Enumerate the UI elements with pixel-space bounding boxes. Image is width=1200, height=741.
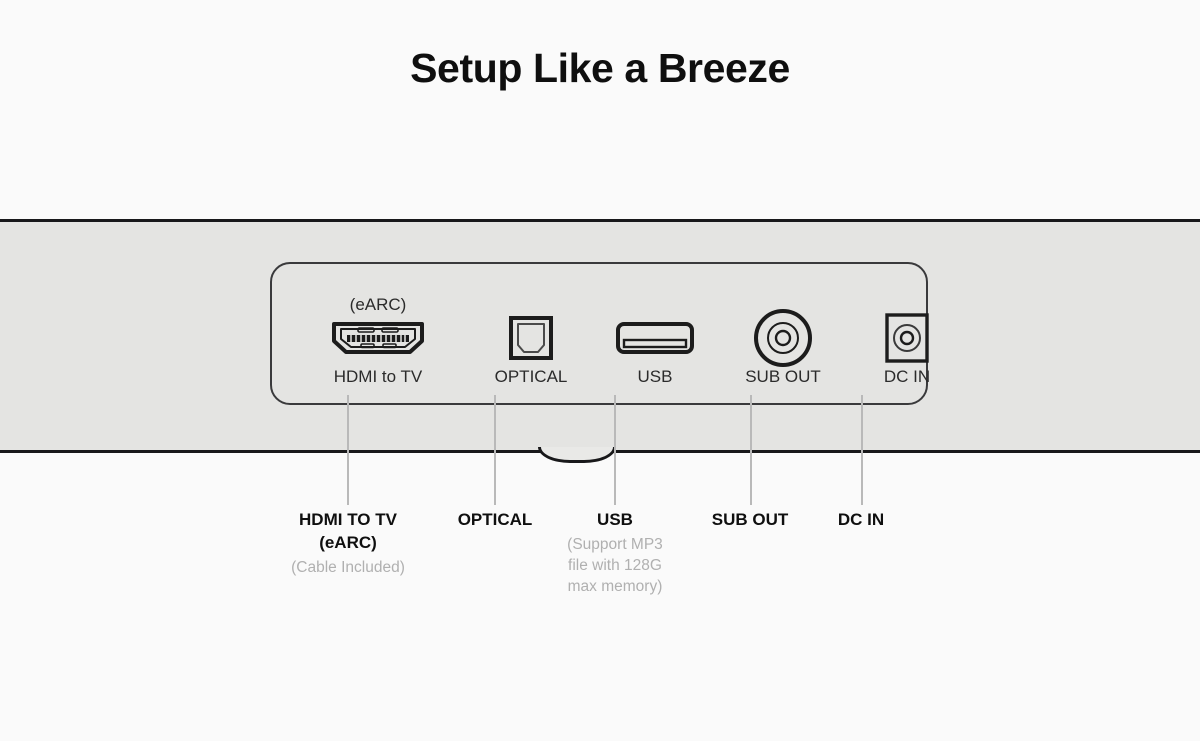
caption-dcin: DC IN	[787, 508, 935, 534]
port-optical[interactable]: OPTICAL	[466, 262, 596, 405]
rca-jack-icon	[714, 312, 852, 364]
optical-port-icon	[466, 312, 596, 364]
usb-port-label: USB	[596, 367, 714, 387]
port-subout[interactable]: SUB OUT	[714, 262, 852, 405]
hdmi-port-icon	[290, 312, 466, 364]
caption-usb: USB (Support MP3 file with 128G max memo…	[537, 508, 693, 597]
page-title: Setup Like a Breeze	[0, 45, 1200, 92]
hdmi-port-label: HDMI to TV	[290, 367, 466, 387]
port-dcin[interactable]: DC IN	[852, 262, 962, 405]
leader-line-optical	[494, 395, 496, 505]
subout-port-label: SUB OUT	[714, 367, 852, 387]
caption-usb-note: (Support MP3 file with 128G max memory)	[537, 534, 693, 597]
soundbar-foot	[538, 447, 616, 463]
leader-line-subout	[750, 395, 752, 505]
optical-port-label: OPTICAL	[466, 367, 596, 387]
leader-line-hdmi	[347, 395, 349, 505]
usb-port-icon	[596, 312, 714, 364]
caption-hdmi-note: (Cable Included)	[249, 557, 447, 578]
port-group: (eARC)	[270, 262, 928, 405]
leader-line-usb	[614, 395, 616, 505]
port-usb[interactable]: USB	[596, 262, 714, 405]
dcin-port-label: DC IN	[852, 367, 962, 387]
caption-dcin-title: DC IN	[787, 508, 935, 531]
leader-line-dcin	[861, 395, 863, 505]
caption-usb-title: USB	[537, 508, 693, 531]
port-hdmi[interactable]: (eARC)	[290, 262, 466, 405]
dc-barrel-jack-icon	[852, 312, 962, 364]
